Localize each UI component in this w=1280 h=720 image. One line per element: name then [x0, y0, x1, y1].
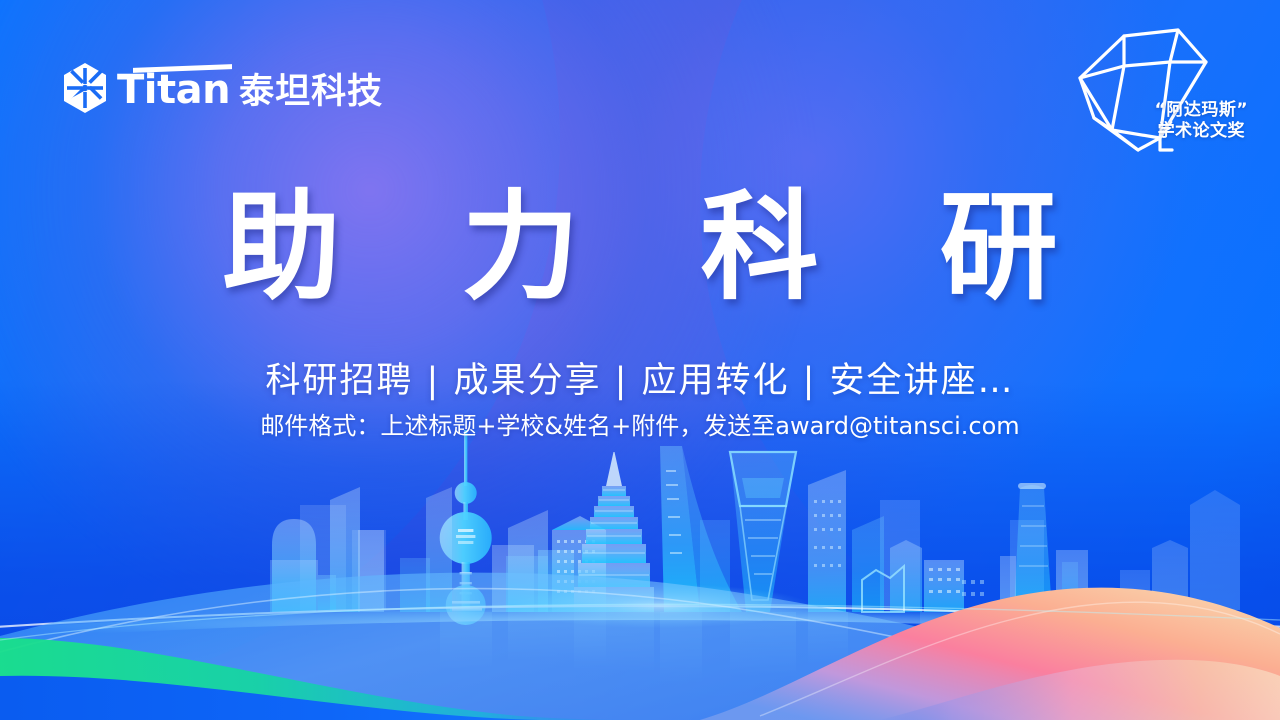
brand-wordmark: Titan 泰坦科技 — [117, 66, 383, 110]
subtitle: 科研招聘 | 成果分享 | 应用转化 | 安全讲座… — [0, 352, 1280, 403]
brand-chinese-name: 泰坦科技 — [239, 75, 383, 110]
award-title-line2: 学术论文奖 — [1155, 121, 1248, 142]
award-badge[interactable]: “阿达玛斯” 学术论文奖 — [1020, 18, 1260, 168]
brand-logo[interactable]: Titan 泰坦科技 — [62, 62, 383, 114]
award-title-line1: “阿达玛斯” — [1155, 100, 1248, 121]
titan-hexagon-starburst-icon — [62, 62, 108, 114]
mail-format-note: 邮件格式：上述标题+学校&姓名+附件，发送至award@titansci.com — [0, 406, 1280, 441]
brand-latin-name: Titan — [117, 66, 230, 110]
page-title: 助 力 科 研 — [0, 186, 1280, 310]
award-title: “阿达玛斯” 学术论文奖 — [1155, 100, 1248, 143]
diamond-outline-icon — [1020, 18, 1260, 168]
banner-canvas: Titan 泰坦科技 “阿达玛斯” — [0, 0, 1280, 720]
